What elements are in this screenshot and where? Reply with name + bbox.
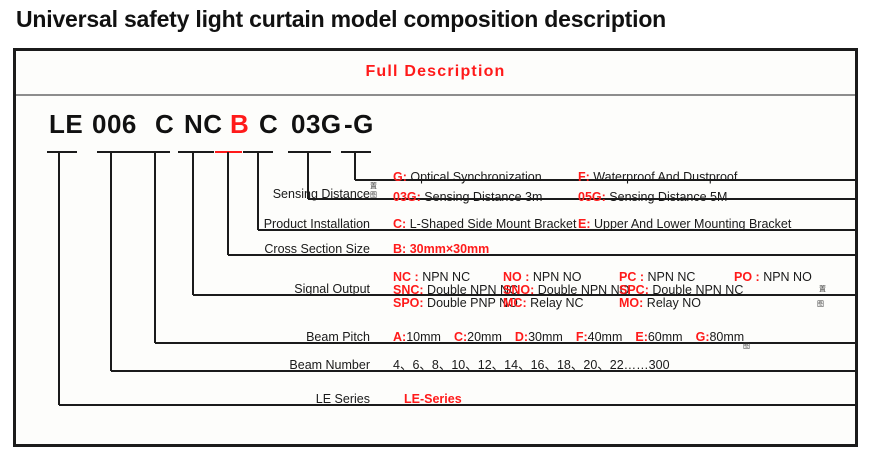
desc-cross-section: B: 30mm×30mm [393, 242, 489, 257]
code-segment-03g: 03G [291, 109, 342, 140]
desc-key: MO: [619, 296, 643, 310]
desc-key: G: [696, 330, 710, 344]
desc-key: SPC: [619, 283, 649, 297]
desc-value: 30mm×30mm [410, 242, 490, 256]
desc-key: SPO: [393, 296, 424, 310]
desc-value: LE-Series [404, 392, 462, 406]
row-label-product-installation: Product Installation [264, 217, 370, 231]
desc-value: 80mm [709, 330, 744, 344]
desc-value: Double NPN NC [652, 283, 743, 297]
row-label-le-series: LE Series [316, 392, 370, 406]
desc-value: Relay NO [647, 296, 701, 310]
desc-key: PC : [619, 270, 644, 284]
desc-key: F: [578, 170, 590, 184]
desc-key: C: [454, 330, 467, 344]
artifact-glyph-beam-pitch: 图 [743, 342, 750, 350]
desc-value: Optical Synchronization [410, 170, 541, 184]
pitch-option-e: E:60mm [635, 330, 682, 344]
desc-value: Double NPN NO [538, 283, 630, 297]
desc-value: Sensing Distance 5M [609, 190, 727, 204]
desc-value: Waterproof And Dustproof [593, 170, 737, 184]
row-label-cross-section-size: Cross Section Size [264, 242, 370, 256]
artifact-glyph-top: 置 [370, 182, 377, 190]
page-title: Universal safety light curtain model com… [16, 6, 666, 33]
row-label-signal-output: Signal Output [294, 282, 370, 296]
code-segment-b: B [230, 109, 249, 140]
pitch-option-f: F:40mm [576, 330, 623, 344]
desc-value: 4、6、8、10、12、14、16、18、20、22……300 [393, 358, 670, 372]
code-segment-nc: NC [184, 109, 223, 140]
desc-value: NPN NO [763, 270, 812, 284]
desc-key: D: [515, 330, 528, 344]
desc-signal-spo: SPO: Double PNP NO [393, 296, 518, 311]
desc-key: SNO: [503, 283, 534, 297]
desc-key: 03G: [393, 190, 421, 204]
desc-distance-3m: 03G: Sensing Distance 3m [393, 190, 542, 205]
desc-value: Upper And Lower Mounting Bracket [594, 217, 791, 231]
code-segment-c1: C [155, 109, 174, 140]
desc-key: MC: [503, 296, 527, 310]
desc-key: NC : [393, 270, 419, 284]
pitch-option-d: D:30mm [515, 330, 563, 344]
row-label-sensing-distance: Sensing Distance [273, 187, 370, 201]
desc-key: PO : [734, 270, 760, 284]
header-divider [16, 94, 855, 96]
desc-key: B: [393, 242, 406, 256]
desc-value: NPN NC [647, 270, 695, 284]
desc-install-upper-lower: E: Upper And Lower Mounting Bracket [578, 217, 791, 232]
artifact-glyph-signal-top: 置 [819, 285, 826, 293]
desc-key: E: [635, 330, 648, 344]
artifact-glyph-bottom: 图 [370, 191, 377, 199]
code-segment-006: 006 [92, 109, 137, 140]
desc-key: C: [393, 217, 406, 231]
model-composition-frame: Full Description LE 006 C NC B C 03G -G [13, 48, 858, 447]
code-segment-le: LE [49, 109, 83, 140]
desc-install-l-bracket: C: L-Shaped Side Mount Bracket [393, 217, 576, 232]
desc-signal-mo: MO: Relay NO [619, 296, 701, 311]
pitch-option-a: A:10mm [393, 330, 441, 344]
desc-key: F: [576, 330, 588, 344]
desc-value: 60mm [648, 330, 683, 344]
row-label-beam-pitch: Beam Pitch [306, 330, 370, 344]
desc-key: A: [393, 330, 406, 344]
desc-distance-5m: 05G: Sensing Distance 5M [578, 190, 727, 205]
desc-beam-number: 4、6、8、10、12、14、16、18、20、22……300 [393, 358, 670, 373]
desc-value: L-Shaped Side Mount Bracket [410, 217, 577, 231]
desc-signal-po: PO : NPN NO [734, 270, 812, 285]
header-band: Full Description [16, 51, 855, 93]
desc-value: Relay NC [530, 296, 584, 310]
desc-key: E: [578, 217, 591, 231]
code-segment-c2: C [259, 109, 278, 140]
desc-value: 20mm [467, 330, 502, 344]
desc-beam-pitch-list: A:10mmC:20mmD:30mmF:40mmE:60mmG:80mm [393, 330, 757, 345]
desc-key: G: [393, 170, 407, 184]
row-label-beam-number: Beam Number [289, 358, 370, 372]
desc-value: NPN NO [533, 270, 582, 284]
code-segment-g: -G [344, 109, 374, 140]
desc-key: SNC: [393, 283, 424, 297]
desc-value: 30mm [528, 330, 563, 344]
desc-value: NPN NC [422, 270, 470, 284]
pitch-option-c: C:20mm [454, 330, 502, 344]
desc-value: 40mm [588, 330, 623, 344]
desc-sync-waterproof: F: Waterproof And Dustproof [578, 170, 737, 185]
header-title: Full Description [365, 63, 505, 81]
model-code-row: LE 006 C NC B C 03G -G [16, 109, 855, 143]
desc-value: 10mm [406, 330, 441, 344]
desc-le-series: LE-Series [404, 392, 462, 407]
desc-signal-mc: MC: Relay NC [503, 296, 584, 311]
desc-key: NO : [503, 270, 529, 284]
desc-sync-optical: G: Optical Synchronization [393, 170, 542, 185]
pitch-option-g: G:80mm [696, 330, 745, 344]
artifact-glyph-signal-bottom: 图 [817, 300, 824, 308]
desc-value: Sensing Distance 3m [424, 190, 542, 204]
desc-key: 05G: [578, 190, 606, 204]
